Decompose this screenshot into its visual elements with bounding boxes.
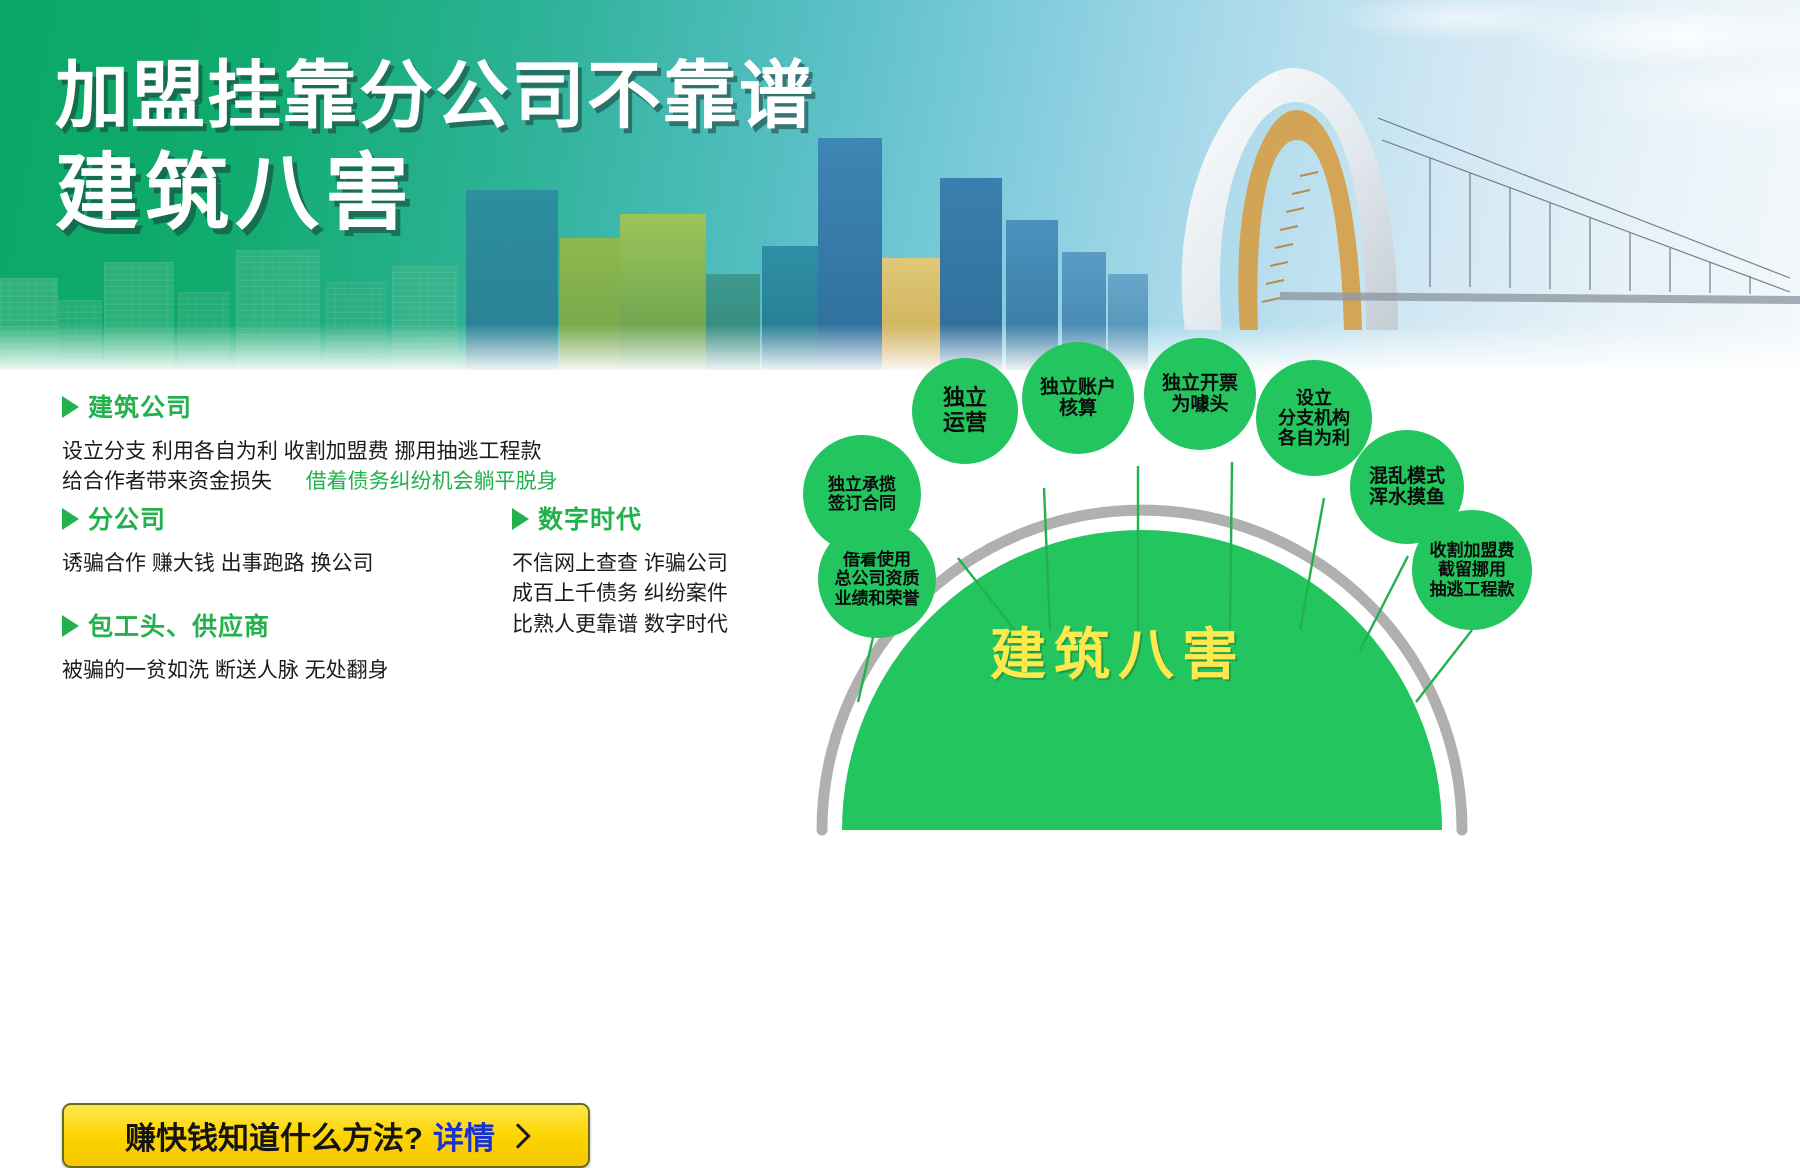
bubble-independent-contracting[interactable]: 独立承揽 签订合同 bbox=[803, 435, 921, 553]
hero-banner: 加盟挂靠分公司不靠谱 建筑八害 bbox=[0, 0, 1800, 370]
section-title: 建筑公司 bbox=[88, 388, 192, 424]
section-line-text: 给合作者带来资金损失 bbox=[62, 470, 272, 493]
bubble-text: 独立承揽 签订合同 bbox=[828, 475, 896, 513]
section-line: 比熟人更靠谱 数字时代 bbox=[512, 610, 728, 640]
bubble-text: 设立 分支机构 各自为利 bbox=[1278, 388, 1350, 449]
dome-center-label: 建筑八害 bbox=[990, 610, 1246, 691]
triangle-bullet-icon bbox=[62, 615, 79, 637]
section-header: 包工头、供应商 bbox=[62, 607, 389, 643]
hero-title-group: 加盟挂靠分公司不靠谱 建筑八害 bbox=[55, 52, 815, 244]
section-header: 分公司 bbox=[62, 500, 374, 536]
section-body: 诱骗合作 赚大钱 出事跑路 换公司 bbox=[62, 549, 374, 579]
bubble-text: 独立开票 为噱头 bbox=[1162, 373, 1238, 416]
section-branch-company: 分公司 诱骗合作 赚大钱 出事跑路 换公司 bbox=[62, 500, 374, 579]
bubble-set-up-branches[interactable]: 设立 分支机构 各自为利 bbox=[1256, 360, 1372, 476]
section-header: 数字时代 bbox=[512, 500, 728, 536]
bubble-text: 独立 运营 bbox=[943, 386, 987, 436]
details-cta-button[interactable]: 赚快钱知道什么方法? 详情 bbox=[62, 1103, 590, 1168]
bubble-text: 混乱模式 浑水摸鱼 bbox=[1369, 466, 1445, 509]
section-title: 分公司 bbox=[88, 500, 166, 536]
triangle-bullet-icon bbox=[62, 508, 79, 530]
section-contractor-supplier: 包工头、供应商 被骗的一贫如洗 断送人脉 无处翻身 bbox=[62, 607, 389, 686]
section-line: 诱骗合作 赚大钱 出事跑路 换公司 bbox=[62, 549, 374, 579]
chevron-right-icon bbox=[505, 1123, 530, 1148]
bubble-independent-invoicing[interactable]: 独立开票 为噱头 bbox=[1144, 338, 1256, 450]
triangle-bullet-icon bbox=[512, 508, 529, 530]
section-body: 设立分支 利用各自为利 收割加盟费 挪用抽逃工程款 给合作者带来资金损失 借着债… bbox=[62, 437, 558, 498]
section-line: 成百上千债务 纠纷案件 bbox=[512, 579, 728, 609]
cta-main-label: 赚快钱知道什么方法? bbox=[125, 1113, 423, 1158]
bubble-independent-accounting[interactable]: 独立账户 核算 bbox=[1022, 342, 1134, 454]
section-line: 设立分支 利用各自为利 收割加盟费 挪用抽逃工程款 bbox=[62, 437, 558, 467]
bubble-independent-operation[interactable]: 独立 运营 bbox=[912, 358, 1018, 464]
hero-title-line2: 建筑八害 bbox=[55, 143, 815, 244]
section-body: 不信网上查查 诈骗公司 成百上千债务 纠纷案件 比熟人更靠谱 数字时代 bbox=[512, 549, 728, 640]
section-title: 包工头、供应商 bbox=[88, 607, 270, 643]
left-content: 建筑公司 设立分支 利用各自为利 收割加盟费 挪用抽逃工程款 给合作者带来资金损… bbox=[0, 370, 800, 844]
cta-link-label[interactable]: 详情 bbox=[433, 1113, 495, 1158]
section-construction-company: 建筑公司 设立分支 利用各自为利 收割加盟费 挪用抽逃工程款 给合作者带来资金损… bbox=[62, 388, 558, 498]
section-header: 建筑公司 bbox=[62, 388, 558, 424]
section-line-highlight: 借着债务纠纷机会躺平脱身 bbox=[306, 470, 558, 493]
hero-title-line1: 加盟挂靠分公司不靠谱 bbox=[55, 52, 815, 139]
bubble-text: 独立账户 核算 bbox=[1040, 377, 1116, 420]
bridge-illustration bbox=[1130, 40, 1800, 330]
section-digital-era: 数字时代 不信网上查查 诈骗公司 成百上千债务 纠纷案件 比熟人更靠谱 数字时代 bbox=[512, 500, 728, 640]
triangle-bullet-icon bbox=[62, 396, 79, 418]
bubble-text: 收割加盟费 截留挪用 抽逃工程款 bbox=[1430, 541, 1515, 599]
section-line: 被骗的一贫如洗 断送人脉 无处翻身 bbox=[62, 656, 389, 686]
section-body: 被骗的一贫如洗 断送人脉 无处翻身 bbox=[62, 656, 389, 686]
bubble-text: 借着使用 总公司资质 业绩和荣誉 bbox=[835, 550, 920, 608]
bubble-diagram: 借着使用 总公司资质 业绩和荣誉 独立承揽 签订合同 独立 运营 独立账户 核算 bbox=[800, 330, 1800, 844]
section-title: 数字时代 bbox=[538, 500, 642, 536]
section-line: 不信网上查查 诈骗公司 bbox=[512, 549, 728, 579]
bubble-franchise-fee-siphoning[interactable]: 收割加盟费 截留挪用 抽逃工程款 bbox=[1412, 510, 1532, 630]
poster-root: 加盟挂靠分公司不靠谱 建筑八害 建筑公司 设立分支 利用各自为利 收割加盟费 挪… bbox=[0, 0, 1800, 844]
section-line: 给合作者带来资金损失 借着债务纠纷机会躺平脱身 bbox=[62, 467, 558, 497]
